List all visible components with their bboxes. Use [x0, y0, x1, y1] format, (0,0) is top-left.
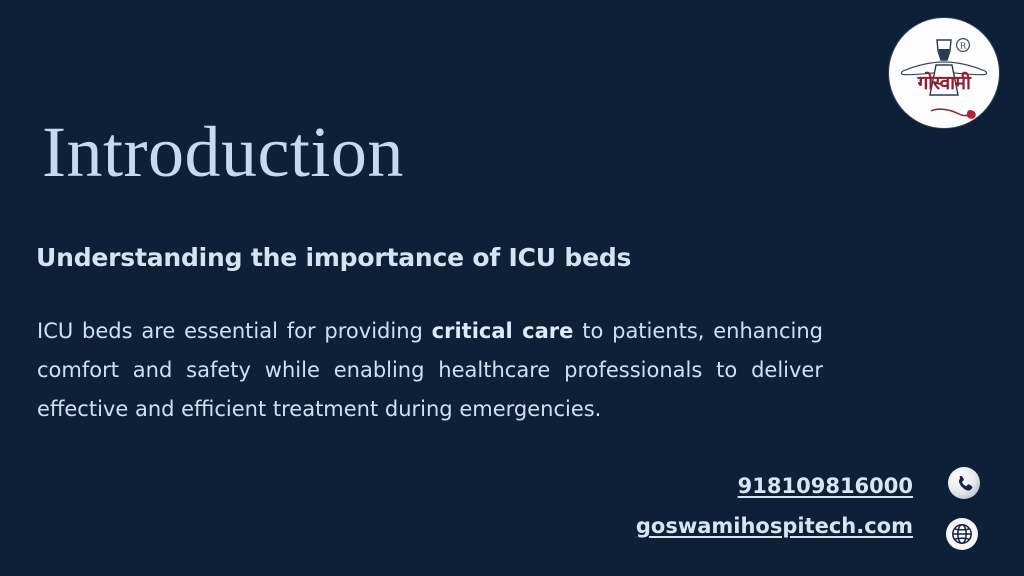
contact-website-link[interactable]: goswamihospitech.com [636, 516, 913, 537]
svg-text:R: R [960, 41, 967, 51]
body-text-part1: ICU beds are essential for providing [37, 319, 432, 343]
globe-icon-glyph [945, 517, 979, 551]
body-text-emphasis: critical care [432, 319, 574, 343]
slide-body-paragraph: ICU beds are essential for providing cri… [37, 312, 823, 429]
phone-icon-glyph [947, 466, 981, 500]
logo-script-text: गोस्वामी [889, 74, 999, 93]
contact-phone-number[interactable]: 918109816000 [636, 476, 913, 497]
slide-subtitle: Understanding the importance of ICU beds [36, 243, 631, 272]
phone-icon[interactable] [947, 466, 981, 500]
contact-block: 918109816000 goswamihospitech.com [636, 476, 913, 537]
goswami-logo[interactable]: R गोस्वामी [889, 18, 999, 128]
registered-trademark-icon: R [957, 39, 970, 52]
page-title: Introduction [42, 116, 404, 188]
presentation-slide: R गोस्वामी Introduction Understanding th… [0, 0, 1024, 576]
globe-icon[interactable] [945, 517, 979, 551]
